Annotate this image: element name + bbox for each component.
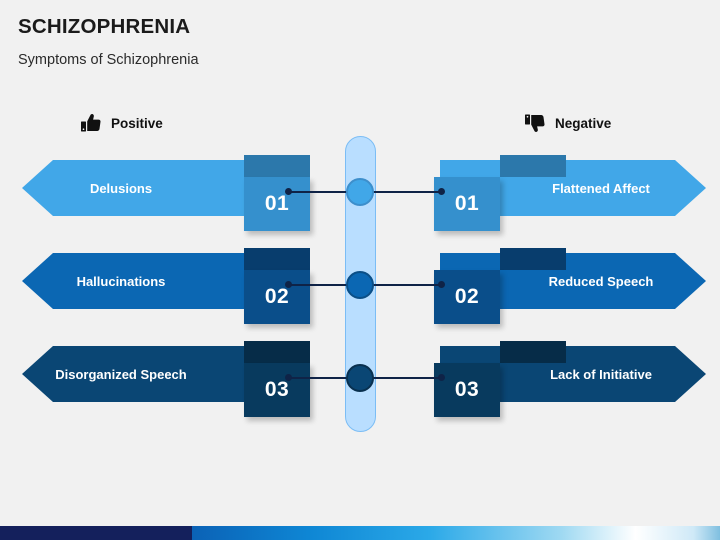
negative-number-2: 02 bbox=[455, 285, 479, 309]
page-title: SCHIZOPHRENIA bbox=[18, 14, 618, 40]
legend-negative-label: Negative bbox=[555, 116, 611, 131]
negative-label-2: Reduced Speech bbox=[549, 274, 654, 289]
connector-line-left-2 bbox=[288, 284, 350, 286]
badge-box: 01 bbox=[244, 177, 310, 231]
negative-label-3: Lack of Initiative bbox=[550, 367, 652, 382]
rail-node-3[interactable] bbox=[346, 364, 374, 392]
positive-item-3[interactable]: Disorganized Speech 03 bbox=[22, 341, 310, 417]
negative-number-3: 03 bbox=[455, 378, 479, 402]
bottom-bar-navy-segment bbox=[0, 526, 192, 540]
badge-box: 03 bbox=[244, 363, 310, 417]
negative-label-1: Flattened Affect bbox=[552, 181, 650, 196]
negative-item-3[interactable]: Lack of Initiative 03 bbox=[434, 341, 706, 417]
positive-badge-3[interactable]: 03 bbox=[244, 363, 310, 417]
thumbs-down-icon bbox=[524, 112, 546, 134]
page-subtitle: Symptoms of Schizophrenia bbox=[18, 50, 618, 70]
bottom-bar-gradient-segment bbox=[192, 526, 720, 540]
connector-dot-right-1 bbox=[438, 188, 445, 195]
negative-item-2[interactable]: Reduced Speech 02 bbox=[434, 248, 706, 324]
rail-node-2[interactable] bbox=[346, 271, 374, 299]
badge-box: 01 bbox=[434, 177, 500, 231]
badge-fold-icon bbox=[244, 155, 310, 177]
connector-dot-left-2 bbox=[285, 281, 292, 288]
positive-label-3: Disorganized Speech bbox=[55, 367, 186, 382]
badge-box: 03 bbox=[434, 363, 500, 417]
positive-number-3: 03 bbox=[265, 378, 289, 402]
negative-number-1: 01 bbox=[455, 192, 479, 216]
badge-fold-icon bbox=[244, 248, 310, 270]
legend-positive-label: Positive bbox=[111, 116, 163, 131]
connector-line-left-3 bbox=[288, 377, 350, 379]
badge-fold-icon bbox=[244, 341, 310, 363]
badge-box: 02 bbox=[434, 270, 500, 324]
negative-item-1[interactable]: Flattened Affect 01 bbox=[434, 155, 706, 231]
connector-dot-right-2 bbox=[438, 281, 445, 288]
thumbs-up-icon bbox=[80, 112, 102, 134]
connector-line-right-1 bbox=[370, 191, 442, 193]
connector-dot-left-1 bbox=[285, 188, 292, 195]
positive-number-2: 02 bbox=[265, 285, 289, 309]
legend-negative: Negative bbox=[524, 111, 611, 135]
rail-node-1[interactable] bbox=[346, 178, 374, 206]
positive-item-2[interactable]: Hallucinations 02 bbox=[22, 248, 310, 324]
positive-number-1: 01 bbox=[265, 192, 289, 216]
negative-badge-3[interactable]: 03 bbox=[434, 363, 500, 417]
legend-positive: Positive bbox=[80, 111, 163, 135]
connector-line-right-2 bbox=[370, 284, 442, 286]
connector-line-right-3 bbox=[370, 377, 442, 379]
connector-line-left-1 bbox=[288, 191, 350, 193]
connector-dot-right-3 bbox=[438, 374, 445, 381]
badge-fold-icon bbox=[500, 248, 566, 270]
badge-box: 02 bbox=[244, 270, 310, 324]
slide-canvas: SCHIZOPHRENIA Symptoms of Schizophrenia … bbox=[0, 0, 720, 540]
positive-label-1: Delusions bbox=[90, 181, 152, 196]
positive-badge-2[interactable]: 02 bbox=[244, 270, 310, 324]
header: SCHIZOPHRENIA Symptoms of Schizophrenia bbox=[18, 14, 618, 70]
badge-fold-icon bbox=[500, 341, 566, 363]
badge-fold-icon bbox=[500, 155, 566, 177]
bottom-decoration-bar bbox=[0, 526, 720, 540]
connector-dot-left-3 bbox=[285, 374, 292, 381]
positive-badge-1[interactable]: 01 bbox=[244, 177, 310, 231]
negative-badge-2[interactable]: 02 bbox=[434, 270, 500, 324]
negative-badge-1[interactable]: 01 bbox=[434, 177, 500, 231]
positive-item-1[interactable]: Delusions 01 bbox=[22, 155, 310, 231]
positive-label-2: Hallucinations bbox=[77, 274, 166, 289]
